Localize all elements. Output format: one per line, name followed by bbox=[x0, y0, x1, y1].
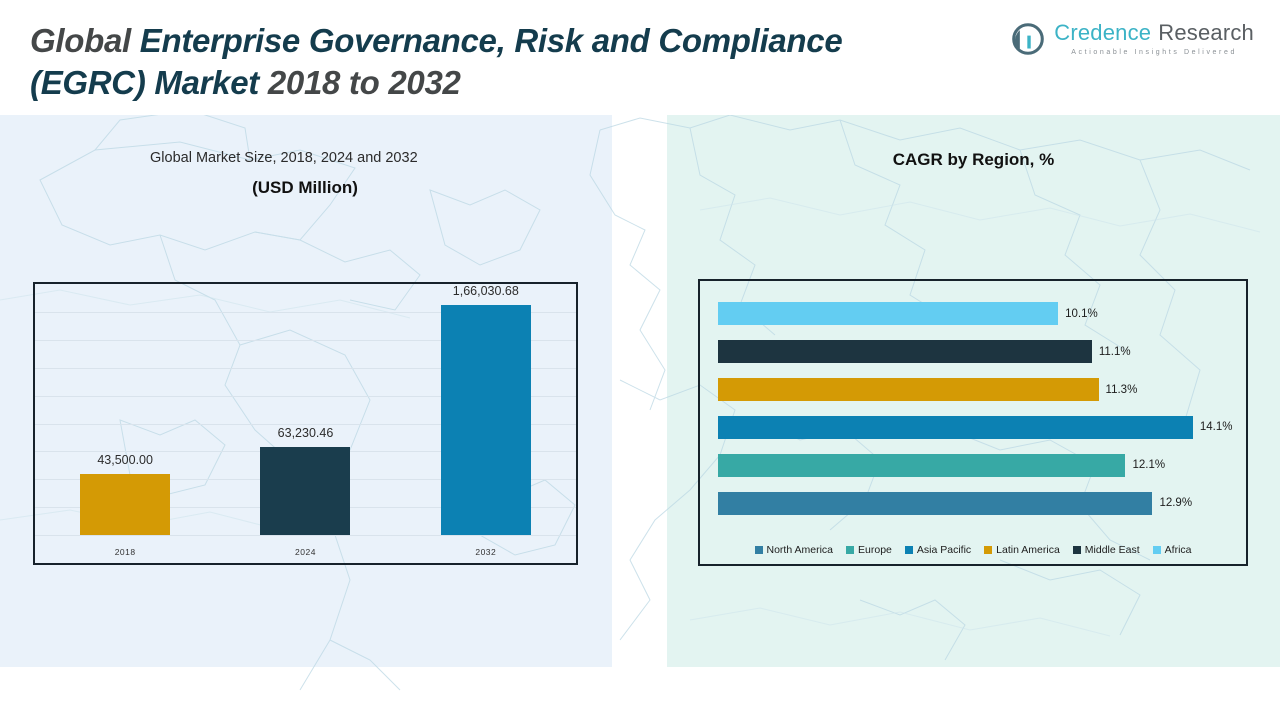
center-divider-background bbox=[612, 115, 667, 667]
bar-chart-circle-icon bbox=[1011, 22, 1045, 56]
legend-swatch-icon bbox=[1153, 546, 1161, 554]
legend-label: Europe bbox=[858, 544, 892, 556]
legend-swatch-icon bbox=[1073, 546, 1081, 554]
infographic-root: Global Enterprise Governance, Risk and C… bbox=[0, 0, 1280, 720]
legend-swatch-icon bbox=[984, 546, 992, 554]
brand-logo[interactable]: Credence Research Actionable Insights De… bbox=[1011, 22, 1254, 56]
legend-swatch-icon bbox=[755, 546, 763, 554]
bar-2024 bbox=[260, 447, 350, 535]
left-chart-title-line2: (USD Million) bbox=[150, 178, 460, 198]
bar-value-label: 10.1% bbox=[1065, 308, 1098, 320]
right-chart-legend: North AmericaEuropeAsia PacificLatin Ame… bbox=[700, 544, 1246, 556]
bar-europe bbox=[718, 454, 1125, 477]
bar-2032 bbox=[441, 305, 531, 535]
bar-africa bbox=[718, 302, 1058, 325]
bar-row: 12.1% bbox=[718, 446, 1240, 484]
logo-wordmark: Credence Research Actionable Insights De… bbox=[1054, 22, 1254, 56]
legend-item-middle-east[interactable]: Middle East bbox=[1073, 544, 1140, 556]
bar-value-label: 12.1% bbox=[1132, 459, 1165, 471]
logo-brand-primary: Credence bbox=[1054, 22, 1151, 44]
logo-brand-secondary: Research bbox=[1158, 22, 1254, 44]
legend-item-latin-america[interactable]: Latin America bbox=[984, 544, 1060, 556]
bar-row: 11.3% bbox=[718, 371, 1240, 409]
market-size-bar-chart: 43,500.0063,230.461,66,030.68 2018202420… bbox=[33, 282, 578, 565]
legend-swatch-icon bbox=[905, 546, 913, 554]
bar-2018 bbox=[80, 474, 170, 535]
legend-item-africa[interactable]: Africa bbox=[1153, 544, 1192, 556]
legend-label: North America bbox=[767, 544, 834, 556]
x-axis-label-2032: 2032 bbox=[396, 547, 576, 557]
legend-item-europe[interactable]: Europe bbox=[846, 544, 892, 556]
legend-label: Africa bbox=[1165, 544, 1192, 556]
bar-row: 12.9% bbox=[718, 484, 1240, 522]
left-chart-plot-area: 43,500.0063,230.461,66,030.68 bbox=[35, 284, 576, 535]
header-bar: Global Enterprise Governance, Risk and C… bbox=[0, 0, 1280, 115]
cagr-by-region-bar-chart: 10.1%11.1%11.3%14.1%12.1%12.9% North Ame… bbox=[698, 279, 1248, 566]
page-title-part1: Global bbox=[30, 22, 140, 59]
left-chart-title-line1: Global Market Size, 2018, 2024 and 2032 bbox=[150, 150, 418, 166]
bar-north-america bbox=[718, 492, 1152, 515]
bar-value-label: 43,500.00 bbox=[97, 453, 153, 467]
bar-middle-east bbox=[718, 340, 1092, 363]
page-title-part3: 2018 to 2032 bbox=[268, 64, 461, 101]
legend-item-north-america[interactable]: North America bbox=[755, 544, 834, 556]
legend-label: Asia Pacific bbox=[917, 544, 971, 556]
left-chart-x-axis: 201820242032 bbox=[35, 535, 576, 563]
legend-swatch-icon bbox=[846, 546, 854, 554]
x-axis-label-2024: 2024 bbox=[215, 547, 395, 557]
logo-tagline: Actionable Insights Delivered bbox=[1054, 49, 1254, 56]
legend-item-asia-pacific[interactable]: Asia Pacific bbox=[905, 544, 971, 556]
bar-latin-america bbox=[718, 378, 1099, 401]
bar-value-label: 63,230.46 bbox=[278, 426, 334, 440]
bar-value-label: 14.1% bbox=[1200, 421, 1233, 433]
legend-label: Middle East bbox=[1085, 544, 1140, 556]
bar-value-label: 1,66,030.68 bbox=[453, 284, 519, 298]
bar-row: 14.1% bbox=[718, 408, 1240, 446]
bar-asia-pacific bbox=[718, 416, 1193, 439]
right-chart-plot-area: 10.1%11.1%11.3%14.1%12.1%12.9% bbox=[718, 295, 1240, 522]
bar-column: 1,66,030.68 bbox=[396, 284, 576, 535]
bar-column: 43,500.00 bbox=[35, 284, 215, 535]
page-title: Global Enterprise Governance, Risk and C… bbox=[30, 20, 930, 104]
bar-column: 63,230.46 bbox=[215, 284, 395, 535]
bar-value-label: 11.1% bbox=[1099, 346, 1131, 358]
bar-value-label: 12.9% bbox=[1159, 497, 1192, 509]
bar-row: 10.1% bbox=[718, 295, 1240, 333]
x-axis-label-2018: 2018 bbox=[35, 547, 215, 557]
bar-row: 11.1% bbox=[718, 333, 1240, 371]
legend-label: Latin America bbox=[996, 544, 1060, 556]
right-chart-title: CAGR by Region, % bbox=[667, 150, 1280, 170]
bar-value-label: 11.3% bbox=[1106, 384, 1138, 396]
